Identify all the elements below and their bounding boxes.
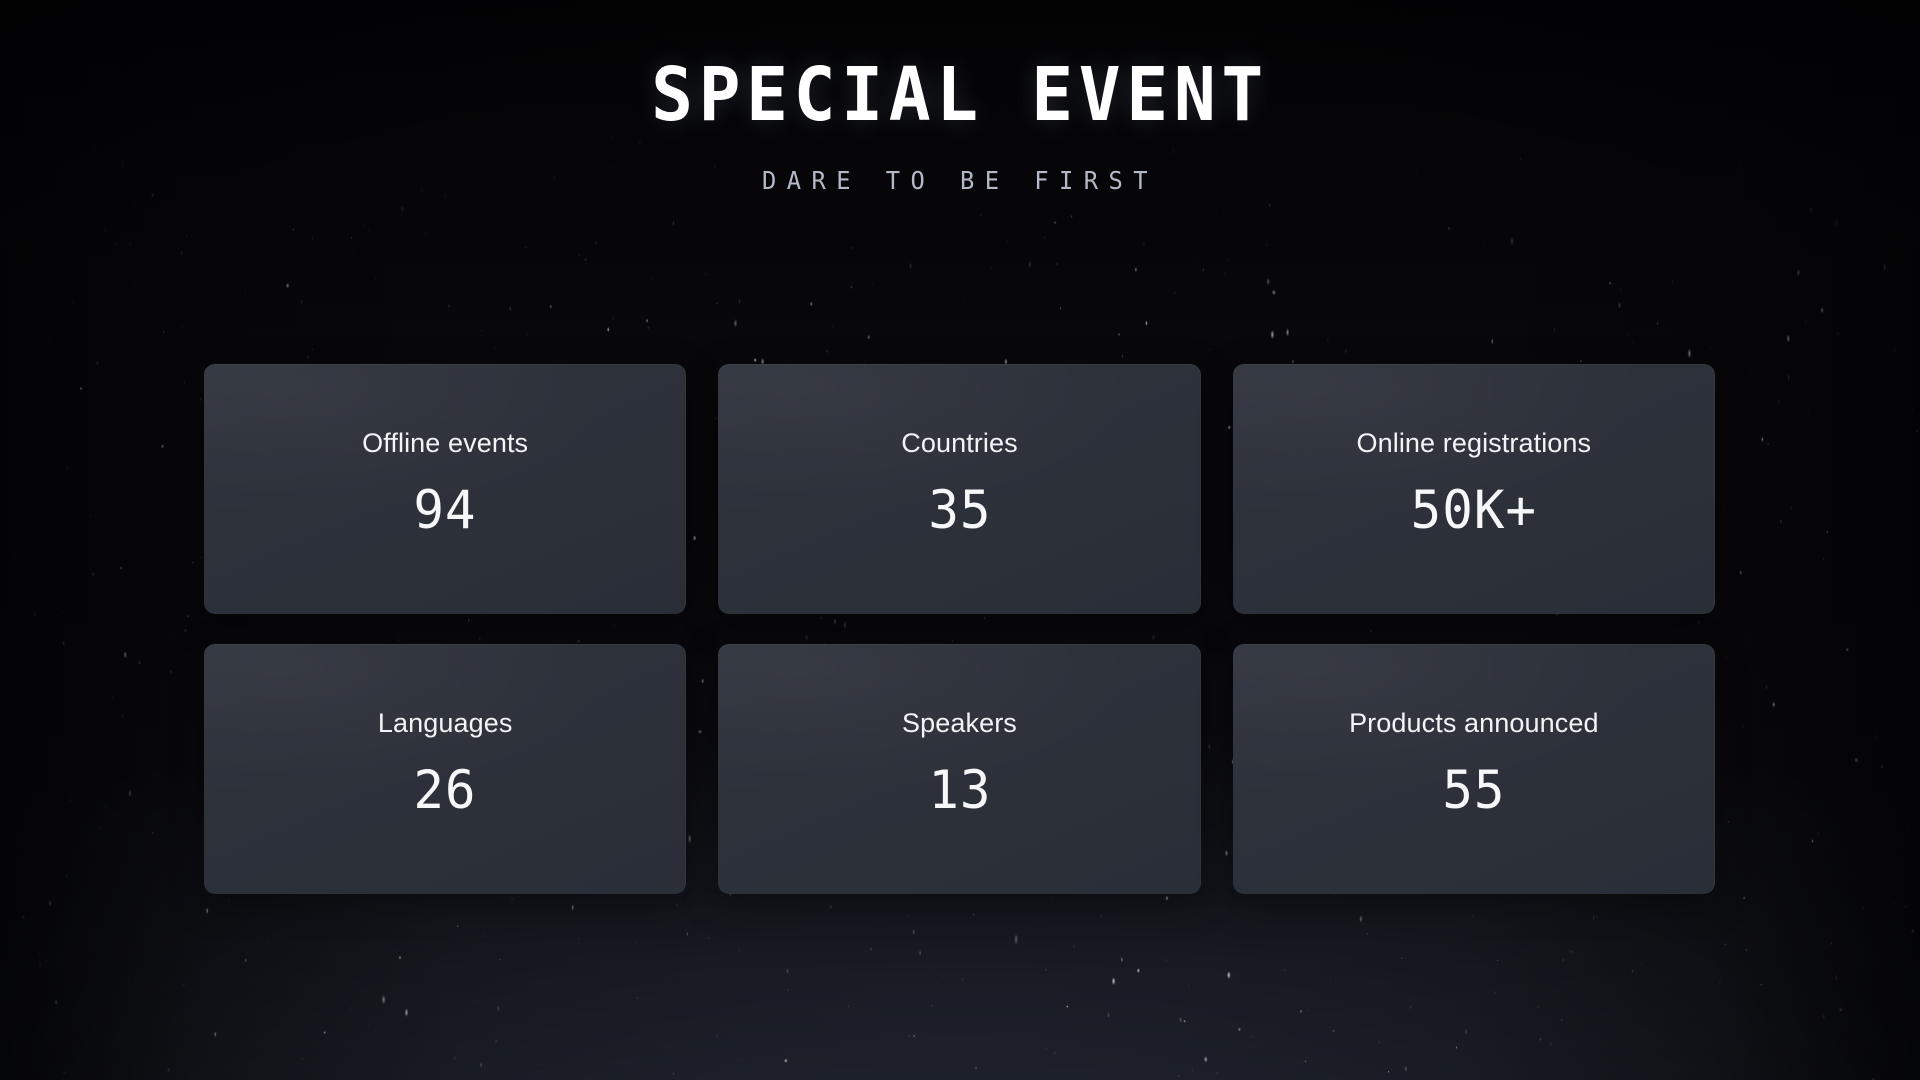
stat-card-content: Speakers13 — [902, 709, 1017, 818]
page-header: SPECIAL EVENT DARE TO BE FIRST — [0, 58, 1920, 193]
page-subtitle: DARE TO BE FIRST — [48, 168, 1872, 193]
stat-card: Countries35 — [718, 364, 1200, 614]
stat-card: Offline events94 — [204, 364, 686, 614]
stat-card-value: 13 — [928, 764, 991, 817]
stat-card: Products announced55 — [1233, 644, 1715, 894]
stat-card: Speakers13 — [718, 644, 1200, 894]
stat-card-label: Offline events — [362, 429, 528, 459]
stat-card-value: 50K+ — [1411, 484, 1537, 537]
stat-card-label: Online registrations — [1357, 429, 1592, 459]
stat-card-content: Countries35 — [901, 429, 1017, 538]
stat-card-value: 55 — [1442, 764, 1505, 817]
event-stats-page: SPECIAL EVENT DARE TO BE FIRST Offline e… — [0, 0, 1920, 1080]
stat-card-content: Offline events94 — [362, 429, 528, 538]
stat-card-label: Countries — [901, 429, 1017, 459]
stat-card-value: 94 — [414, 484, 477, 537]
stat-card-content: Online registrations50K+ — [1357, 429, 1592, 538]
page-title: SPECIAL EVENT — [58, 58, 1863, 132]
stat-card: Languages26 — [204, 644, 686, 894]
stat-card-value: 35 — [928, 484, 991, 537]
stat-card-content: Languages26 — [378, 709, 513, 818]
stat-card-value: 26 — [414, 764, 477, 817]
stat-card-label: Products announced — [1349, 709, 1598, 739]
stat-card-label: Languages — [378, 709, 513, 739]
stats-grid: Offline events94Countries35Online regist… — [204, 364, 1715, 894]
stat-card-label: Speakers — [902, 709, 1017, 739]
stat-card-content: Products announced55 — [1349, 709, 1598, 818]
stat-card: Online registrations50K+ — [1233, 364, 1715, 614]
